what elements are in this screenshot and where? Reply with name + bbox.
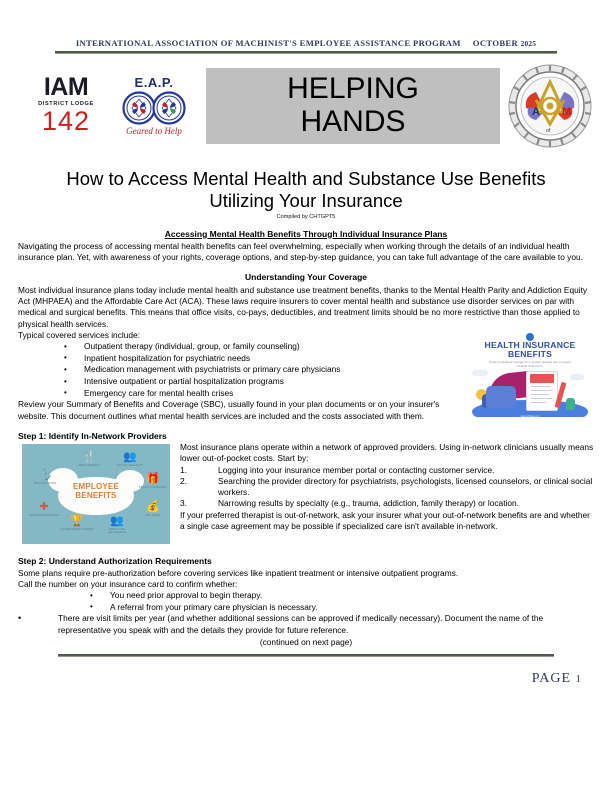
masthead-month: OCTOBER [473, 38, 518, 48]
icon-label: ACHIEVEMENT AWARD [60, 528, 94, 531]
employee-allowance-icon: 👥 EMPLOYEE ALLOWANCE [100, 516, 134, 534]
iam-gear-emblem-icon: A M of [506, 62, 594, 150]
document-credit: Compiled by CHTGPT5 [0, 214, 612, 220]
header-logo-band: IAM DISTRICT LODGE 142 E.A.P. [18, 60, 594, 152]
coverage-paragraph: Most individual insurance plans today in… [18, 285, 594, 330]
step-2-heading: Step 2: Understand Authorization Require… [18, 556, 594, 567]
masthead-organization: INTERNATIONAL ASSOCIATION OF MACHINIST'S… [76, 38, 461, 48]
list-item: Outpatient therapy (individual, group, o… [18, 341, 594, 353]
footer-page-number: 1 [576, 673, 583, 685]
perks-bonuses-icon: 🎁 PERKS & BONUSES [138, 474, 168, 489]
icon-label: HEALTH INSURANCE [28, 514, 60, 517]
achievement-award-icon: 🏆 ACHIEVEMENT AWARD [60, 516, 94, 531]
footer-divider [58, 654, 554, 657]
page-title-line-1: How to Access Mental Health and Substanc… [0, 168, 612, 191]
step-1-outro: If your preferred therapist is out-of-ne… [180, 510, 594, 532]
masthead-year: 2025 [521, 39, 537, 48]
iam-district-lodge-logo: IAM DISTRICT LODGE 142 [28, 76, 104, 135]
svg-text:of: of [546, 128, 551, 134]
newsletter-title-line-2: HANDS [287, 106, 419, 138]
iam-logo-text: IAM [28, 76, 104, 100]
eap-logo: E.A.P. [108, 75, 200, 136]
paid-vacation-icon: ⚓ PAID VACATION [30, 470, 60, 485]
newsletter-title-banner: HELPING HANDS [206, 68, 500, 144]
svg-text:M: M [562, 106, 571, 118]
typical-services-list: Outpatient therapy (individual, group, o… [18, 341, 594, 399]
page-title-line-2: Utilizing Your Insurance [0, 190, 612, 213]
footer-page-word: PAGE [532, 671, 571, 686]
list-text: Logging into your insurance member porta… [218, 465, 494, 475]
step-1-intro: Most insurance plans operate within a ne… [180, 442, 594, 464]
step-2-intro-line-1: Some plans require pre-authorization bef… [18, 568, 594, 579]
icon-label: MEAL BREAKS [74, 464, 104, 467]
health-insurance-logo-icon [526, 333, 534, 341]
list-item: Inpatient hospitalization for psychiatri… [18, 353, 594, 365]
list-item: You need prior approval to begin therapy… [18, 590, 594, 602]
list-item: A referral from your primary care physic… [18, 602, 594, 614]
step-2-bullet-list: You need prior approval to begin therapy… [18, 590, 594, 613]
list-item: Medication management with psychiatrists… [18, 364, 594, 376]
document-page: INTERNATIONAL ASSOCIATION OF MACHINIST'S… [0, 0, 612, 792]
employee-benefits-line-1: EMPLOYEE [73, 482, 119, 491]
eap-tagline: Geared to Help [108, 126, 200, 136]
section-heading-understanding-coverage: Understanding Your Coverage [18, 272, 594, 283]
list-text: Narrowing results by specialty (e.g., tr… [218, 498, 519, 508]
pay-raise-icon: 💰 PAY RAISE [138, 502, 168, 517]
eap-logo-text: E.A.P. [108, 75, 200, 90]
masthead: INTERNATIONAL ASSOCIATION OF MACHINIST'S… [0, 0, 612, 48]
step-1-body: Most insurance plans operate within a ne… [180, 442, 594, 532]
step-1-numbered-list: 1.Logging into your insurance member por… [180, 465, 594, 510]
list-number: 3. [180, 498, 187, 509]
continued-note: (continued on next page) [18, 637, 594, 648]
social-security-icon: 👥 SOCIAL SECURITY [114, 452, 146, 467]
icon-label: SOCIAL SECURITY [114, 464, 146, 467]
employee-benefits-center-text: EMPLOYEE BENEFITS [58, 483, 134, 501]
newsletter-title-line-1: HELPING [287, 73, 419, 105]
section-heading-accessing-benefits: Accessing Mental Health Benefits Through… [18, 229, 594, 240]
list-number: 2. [180, 476, 187, 487]
icon-label: PAY RAISE [138, 514, 168, 517]
plant-icon [566, 398, 575, 410]
health-insurance-icon: ✚ HEALTH INSURANCE [28, 502, 60, 517]
list-item: 3.Narrowing results by specialty (e.g., … [180, 498, 594, 509]
masthead-divider [55, 51, 557, 54]
step-1-heading: Step 1: Identify In-Network Providers [18, 431, 594, 442]
employee-benefits-illustration: EMPLOYEE BENEFITS ⚓ PAID VACATION 🍴 MEAL… [22, 444, 170, 544]
iam-lodge-number: 142 [28, 107, 104, 135]
intro-paragraph: Navigating the process of accessing ment… [18, 241, 594, 263]
list-item: Intensive outpatient or partial hospital… [18, 376, 594, 388]
step-2-intro-line-2: Call the number on your insurance card t… [18, 579, 594, 590]
page-footer: PAGE 1 [0, 671, 582, 687]
employee-benefits-line-2: BENEFITS [75, 491, 116, 500]
list-item: Emergency care for mental health crises [18, 388, 594, 400]
document-body: Accessing Mental Health Benefits Through… [18, 229, 594, 648]
icon-label: PERKS & BONUSES [138, 486, 168, 489]
list-item: 1.Logging into your insurance member por… [180, 465, 594, 476]
step-2-final-bullet: There are visit limits per year (and whe… [18, 613, 594, 635]
eap-seal-icon [108, 91, 200, 125]
list-item: 2.Searching the provider directory for p… [180, 476, 594, 498]
icon-label: EMPLOYEE ALLOWANCE [100, 528, 134, 534]
page-title: How to Access Mental Health and Substanc… [0, 168, 612, 213]
meal-breaks-icon: 🍴 MEAL BREAKS [74, 452, 104, 467]
list-number: 1. [180, 465, 187, 476]
health-figure-url: www.sfhigo.com [466, 415, 594, 418]
svg-text:A: A [532, 106, 540, 118]
list-text: Searching the provider directory for psy… [218, 476, 592, 497]
icon-label: PAID VACATION [30, 482, 60, 485]
